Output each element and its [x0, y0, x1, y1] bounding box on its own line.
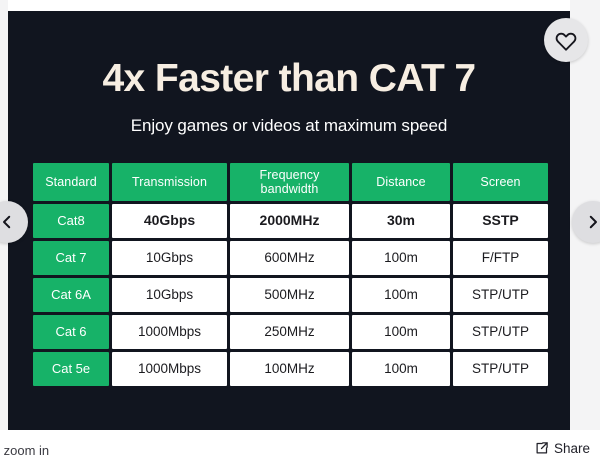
frequency-label-line2: bandwidth: [261, 182, 319, 196]
cell-frequency: 250MHz: [230, 315, 349, 349]
row-label-standard: Cat 6: [33, 315, 109, 349]
cell-transmission: 10Gbps: [112, 278, 227, 312]
cell-distance: 100m: [352, 315, 450, 349]
cell-screen: F/FTP: [453, 241, 548, 275]
cell-screen: STP/UTP: [453, 278, 548, 312]
cell-screen: SSTP: [453, 204, 548, 238]
column-header-screen: Screen: [453, 163, 548, 201]
product-image-viewer: 4x Faster than CAT 7 Enjoy games or vide…: [0, 0, 600, 473]
zoom-hint-text: er to zoom in: [0, 443, 49, 458]
cell-transmission: 10Gbps: [112, 241, 227, 275]
column-header-transmission: Transmission: [112, 163, 227, 201]
share-icon: [534, 441, 549, 456]
cell-screen: STP/UTP: [453, 315, 548, 349]
cell-screen: STP/UTP: [453, 352, 548, 386]
cell-transmission: 1000Mbps: [112, 315, 227, 349]
row-label-standard: Cat 6A: [33, 278, 109, 312]
cell-frequency: 500MHz: [230, 278, 349, 312]
column-header-distance: Distance: [352, 163, 450, 201]
cell-transmission: 1000Mbps: [112, 352, 227, 386]
viewer-footer: er to zoom in Share: [0, 430, 600, 473]
share-label: Share: [554, 441, 590, 456]
cable-comparison-table: Standard Transmission Frequency bandwidt…: [30, 160, 551, 389]
cell-transmission: 40Gbps: [112, 204, 227, 238]
cell-distance: 100m: [352, 352, 450, 386]
cell-frequency: 100MHz: [230, 352, 349, 386]
frequency-label-line1: Frequency: [260, 168, 320, 182]
table-row: Cat 6 1000Mbps 250MHz 100m STP/UTP: [33, 315, 548, 349]
table-header-row: Standard Transmission Frequency bandwidt…: [33, 163, 548, 201]
share-button[interactable]: Share: [534, 441, 590, 456]
row-label-standard: Cat8: [33, 204, 109, 238]
cell-frequency: 600MHz: [230, 241, 349, 275]
table-row: Cat 6A 10Gbps 500MHz 100m STP/UTP: [33, 278, 548, 312]
cell-distance: 100m: [352, 241, 450, 275]
heart-icon: [555, 29, 577, 51]
chevron-right-icon: [584, 213, 600, 231]
table-row: Cat8 40Gbps 2000MHz 30m SSTP: [33, 204, 548, 238]
row-label-standard: Cat 5e: [33, 352, 109, 386]
table-row: Cat 7 10Gbps 600MHz 100m F/FTP: [33, 241, 548, 275]
chevron-left-icon: [0, 213, 16, 231]
column-header-standard: Standard: [33, 163, 109, 201]
cell-distance: 100m: [352, 278, 450, 312]
cell-distance: 30m: [352, 204, 450, 238]
carousel-next-button[interactable]: [572, 201, 600, 243]
promo-subtitle: Enjoy games or videos at maximum speed: [8, 116, 570, 136]
cell-frequency: 2000MHz: [230, 204, 349, 238]
column-header-frequency-bandwidth: Frequency bandwidth: [230, 163, 349, 201]
row-label-standard: Cat 7: [33, 241, 109, 275]
clipped-content-strip: [8, 0, 570, 11]
table-row: Cat 5e 1000Mbps 100MHz 100m STP/UTP: [33, 352, 548, 386]
promo-title: 4x Faster than CAT 7: [8, 59, 570, 98]
favorite-button[interactable]: [544, 18, 588, 62]
promo-image[interactable]: 4x Faster than CAT 7 Enjoy games or vide…: [8, 11, 570, 430]
